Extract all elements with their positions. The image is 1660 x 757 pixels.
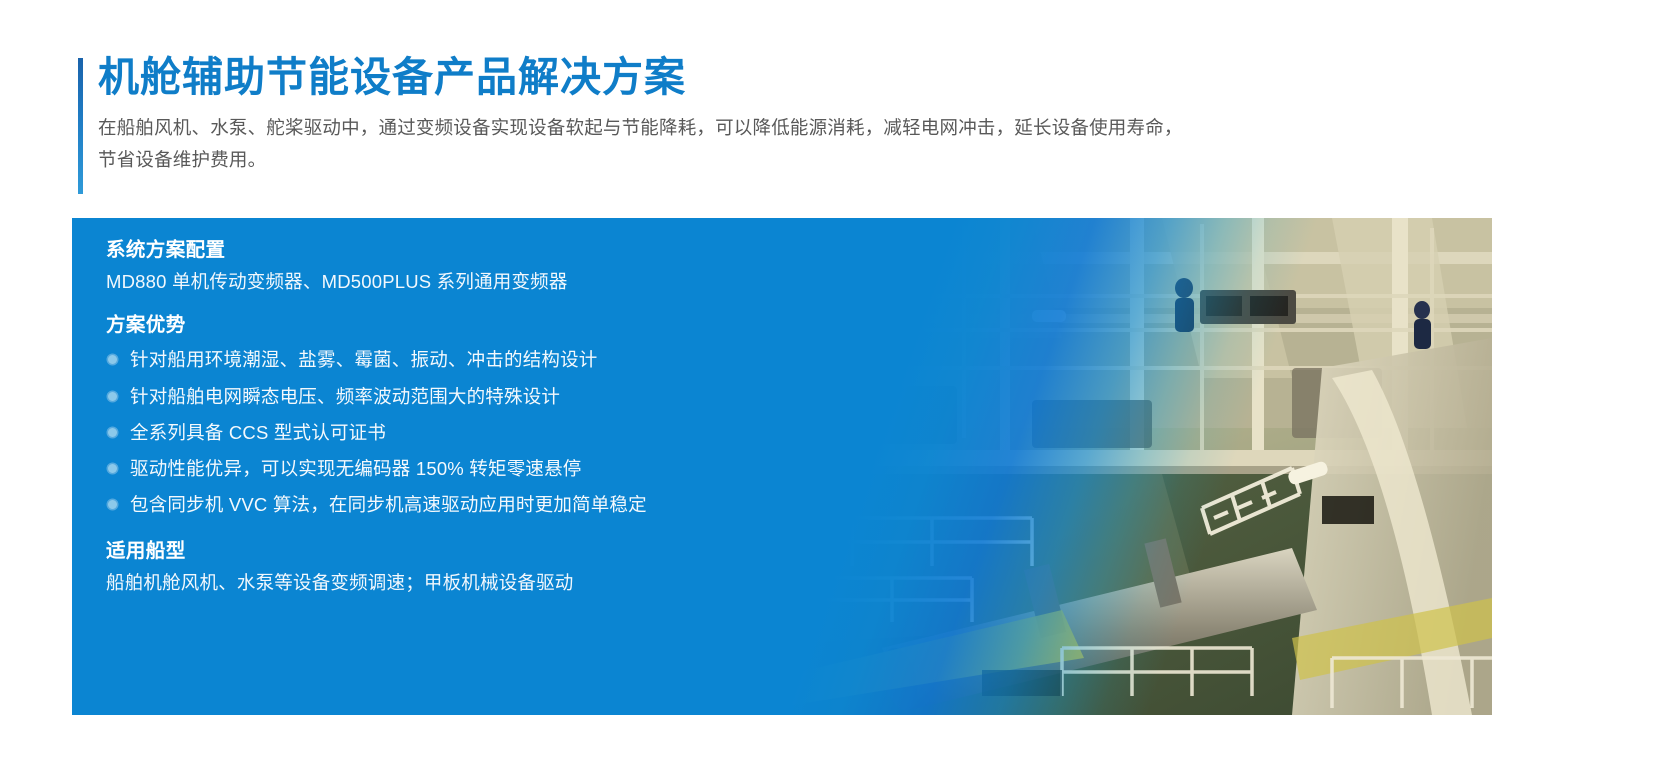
list-item-label: 驱动性能优异，可以实现无编码器 150% 转矩零速悬停 (130, 458, 582, 479)
list-item-label: 针对船舶电网瞬态电压、频率波动范围大的特殊设计 (130, 386, 560, 407)
page-subtitle-line-2: 节省设备维护费用。 (98, 144, 1498, 176)
section-ship-types-title: 适用船型 (106, 537, 866, 566)
bullet-dot-icon (108, 392, 117, 401)
list-item-label: 针对船用环境潮湿、盐雾、霉菌、振动、冲击的结构设计 (130, 349, 598, 370)
panel-content: 系统方案配置 MD880 单机传动变频器、MD500PLUS 系列通用变频器 方… (106, 236, 866, 616)
bullet-dot-icon (108, 428, 117, 437)
section-ship-types-text: 船舶机舱风机、水泵等设备变频调速；甲板机械设备驱动 (106, 568, 866, 598)
page-title: 机舱辅助节能设备产品解决方案 (98, 55, 1498, 100)
page-header: 机舱辅助节能设备产品解决方案 在船舶风机、水泵、舵桨驱动中，通过变频设备实现设备… (78, 55, 1498, 195)
section-config-title: 系统方案配置 (106, 236, 866, 265)
bullet-dot-icon (108, 355, 117, 364)
list-item: 包含同步机 VVC 算法，在同步机高速驱动应用时更加简单稳定 (106, 491, 866, 519)
advantages-list: 针对船用环境潮湿、盐雾、霉菌、振动、冲击的结构设计 针对船舶电网瞬态电压、频率波… (106, 346, 866, 519)
bullet-dot-icon (108, 464, 117, 473)
section-config-text: MD880 单机传动变频器、MD500PLUS 系列通用变频器 (106, 267, 866, 297)
bullet-dot-icon (108, 500, 117, 509)
page-subtitle: 在船舶风机、水泵、舵桨驱动中，通过变频设备实现设备软起与节能降耗，可以降低能源消… (98, 112, 1498, 176)
header-text-group: 机舱辅助节能设备产品解决方案 在船舶风机、水泵、舵桨驱动中，通过变频设备实现设备… (98, 55, 1498, 176)
accent-bar (78, 58, 83, 194)
section-advantages-title: 方案优势 (106, 311, 866, 340)
list-item: 针对船舶电网瞬态电压、频率波动范围大的特殊设计 (106, 383, 866, 411)
section-config: 系统方案配置 MD880 单机传动变频器、MD500PLUS 系列通用变频器 (106, 236, 866, 297)
list-item-label: 全系列具备 CCS 型式认可证书 (130, 422, 386, 443)
page-subtitle-line-1: 在船舶风机、水泵、舵桨驱动中，通过变频设备实现设备软起与节能降耗，可以降低能源消… (98, 112, 1498, 144)
list-item: 针对船用环境潮湿、盐雾、霉菌、振动、冲击的结构设计 (106, 346, 866, 374)
section-ship-types: 适用船型 船舶机舱风机、水泵等设备变频调速；甲板机械设备驱动 (106, 537, 866, 598)
solution-panel: 系统方案配置 MD880 单机传动变频器、MD500PLUS 系列通用变频器 方… (72, 218, 1492, 715)
list-item: 驱动性能优异，可以实现无编码器 150% 转矩零速悬停 (106, 455, 866, 483)
section-advantages: 方案优势 针对船用环境潮湿、盐雾、霉菌、振动、冲击的结构设计 针对船舶电网瞬态电… (106, 311, 866, 519)
solution-banner-page: 机舱辅助节能设备产品解决方案 在船舶风机、水泵、舵桨驱动中，通过变频设备实现设备… (0, 0, 1660, 757)
list-item: 全系列具备 CCS 型式认可证书 (106, 419, 866, 447)
list-item-label: 包含同步机 VVC 算法，在同步机高速驱动应用时更加简单稳定 (130, 494, 647, 515)
